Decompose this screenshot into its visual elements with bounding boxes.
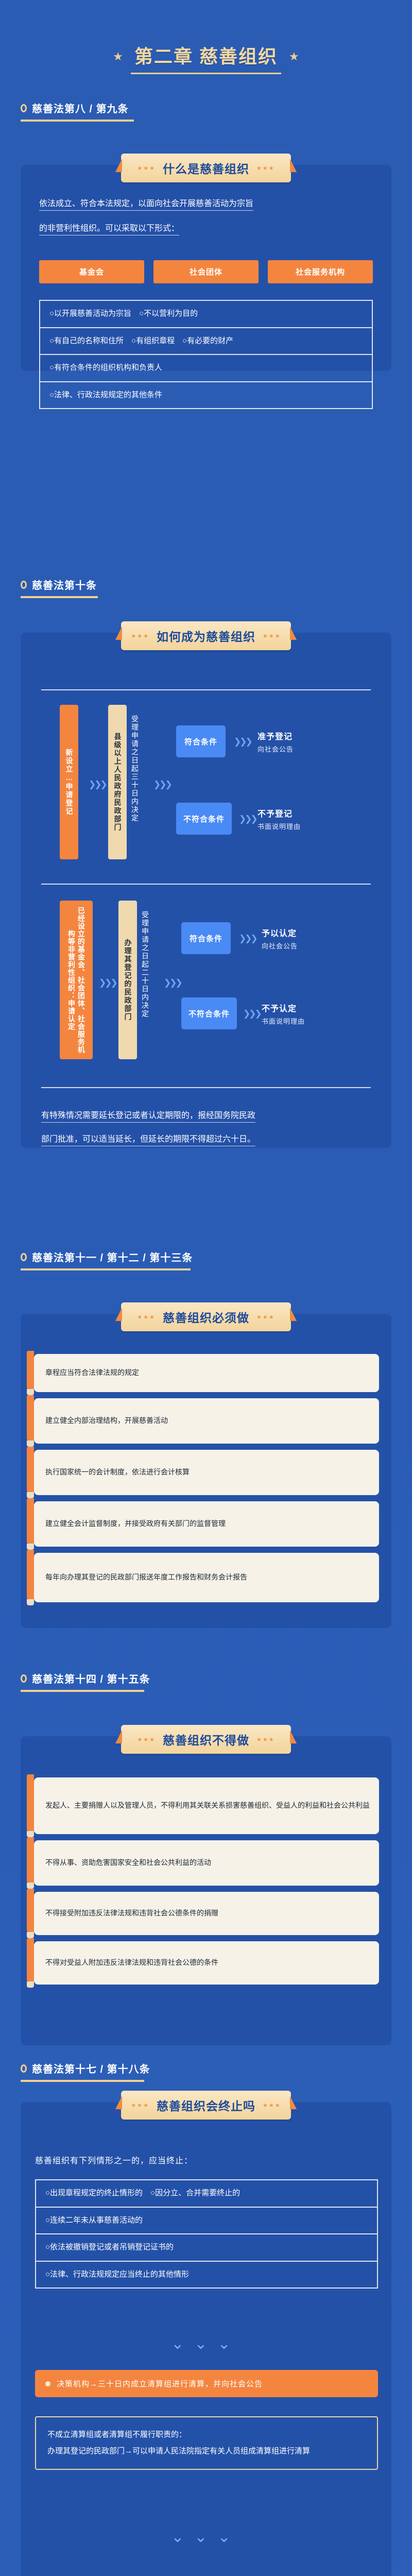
flow-deadline-existing: 受理申请之日起二十日内决定 [140, 911, 150, 1059]
condition-row: ○有符合条件的组织机构和负责人 [40, 354, 372, 381]
ribbon-title: 如何成为慈善组织 [157, 627, 255, 645]
outcome-detail: 书面说明理由 [257, 821, 301, 831]
ring-icon [21, 1674, 27, 1683]
flow-arrow-icon: ❯❯❯ [99, 978, 116, 988]
outcome-title: 予以认定 [262, 926, 298, 939]
ring-icon [21, 1253, 27, 1261]
step-1-text: 决策机构→三十日内成立清算组进行清算，并向社会公告 [57, 2378, 263, 2389]
termination-intro: 慈善组织有下列情形之一的，应当终止： [35, 2154, 193, 2166]
panel-must-do: ★★★ 慈善组织必须做 ★★★ 章程应当符合法律法规的规定 建立健全内部治理结构… [21, 1314, 391, 1628]
flow-authority-new: 县级以上人民政府民政部门 [108, 705, 127, 859]
section-underline [21, 2080, 144, 2082]
section-label-article-17-18: 慈善法第十七 / 第十八条 [21, 2061, 144, 2082]
must-not-do-list: 发起人、主要捐赠人以及管理人员，不得利用其关联关系损害慈善组织、受益人的利益和社… [34, 1777, 379, 1991]
definition-line-2: 的非营利性组织。可以采取以下形式： [39, 224, 179, 235]
panel-what-is-charity: ★★★ 什么是慈善组织 ★★★ 依法成立、符合本法规定，以面向社会开展慈善活动为… [21, 165, 391, 371]
condition-row: ○以开展慈善活动为宗旨 ○不以营利为目的 [40, 301, 372, 327]
down-arrow-icon-1: ⌄⌄⌄ [21, 2336, 391, 2352]
stars-right-icon: ★★★ [263, 2102, 281, 2109]
flow-outcome-not-recognize: 不予认定 书面说明理由 [262, 1002, 305, 1026]
list-item: 每年向办理其登记的民政部门报送年度工作报告和财务会计报告 [34, 1553, 379, 1602]
flow-arrow-icon: ❯❯❯ [234, 737, 251, 747]
panel-termination: ★★★ 慈善组织会终止吗 ★★★ 慈善组织有下列情形之一的，应当终止： ○出现章… [21, 2102, 391, 2576]
flow-arrow-icon: ❯❯❯ [89, 779, 106, 790]
charity-forms-list: 基金会 社会团体 社会服务机构 [39, 260, 373, 283]
flow-arrow-icon: ❯❯❯ [243, 1009, 261, 1019]
section-underline [21, 1268, 191, 1270]
form-chip-foundation[interactable]: 基金会 [39, 260, 144, 283]
list-item: 章程应当符合法律法规的规定 [34, 1354, 379, 1392]
infographic-page: ★ 第二章 慈善组织 ★ 慈善法第八 / 第九条 ★★★ 什么是慈善组织 ★★★… [0, 0, 412, 2576]
ribbon-how-to-become: ★★★ 如何成为慈善组织 ★★★ [121, 621, 291, 650]
flow-divider-bottom [41, 1087, 371, 1088]
definition-line-1: 依法成立、符合本法规定，以面向社会开展慈善活动为宗旨 [39, 199, 253, 211]
flow-arrow-icon: ❯❯❯ [153, 779, 171, 790]
condition-row: ○有自己的名称和住所 ○有组织章程 ○有必要的财产 [40, 327, 372, 354]
outcome-title: 准予登记 [257, 730, 294, 742]
outcome-title: 不予认定 [262, 1002, 305, 1014]
flow-arrow-icon: ❯❯❯ [239, 814, 256, 824]
flow-condition-unmet-2: 不符合条件 [181, 997, 237, 1029]
ribbon-title: 慈善组织必须做 [163, 1308, 249, 1326]
ribbon-what-is-charity: ★★★ 什么是慈善组织 ★★★ [121, 154, 291, 182]
flow-authority-existing: 办理其登记的民政部门 [118, 901, 137, 1059]
ribbon-must-not-do: ★★★ 慈善组织不得做 ★★★ [121, 1725, 291, 1754]
stars-right-icon: ★★★ [263, 633, 281, 639]
list-item: 执行国家统一的会计制度，依法进行会计核算 [34, 1450, 379, 1495]
termination-step-2: 不成立清算组或者清算组不履行职责的： 办理其登记的民政部门→可以申请人民法院指定… [35, 2416, 378, 2470]
chapter-header: ★ 第二章 慈善组织 ★ [0, 45, 412, 74]
flow-outcome-recognize: 予以认定 向社会公告 [262, 926, 298, 951]
ribbon-termination: ★★★ 慈善组织会终止吗 ★★★ [121, 2091, 291, 2120]
stars-right-icon: ★★★ [256, 1314, 275, 1320]
section-title: 慈善法第十四 / 第十五条 [32, 1671, 150, 1686]
outcome-detail: 书面说明理由 [262, 1016, 305, 1026]
termination-case-row: ○法律、行政法规规定应当终止的其他情形 [36, 2261, 377, 2288]
termination-case-row: ○出现章程规定的终止情形的 ○因分立、合并需要终止的 [36, 2180, 377, 2207]
must-do-list: 章程应当符合法律法规的规定 建立健全内部治理结构，开展慈善活动 执行国家统一的会… [34, 1354, 379, 1608]
outcome-detail: 向社会公告 [262, 941, 298, 951]
list-item: 不得接受附加违反法律法规和违背社会公德条件的捐赠 [34, 1892, 379, 1935]
section-label-article-14-15: 慈善法第十四 / 第十五条 [21, 1671, 144, 1692]
stars-left-icon: ★★★ [137, 1314, 156, 1320]
condition-row: ○法律、行政法规规定的其他条件 [40, 381, 372, 409]
flow-arrow-icon: ❯❯❯ [239, 934, 256, 944]
section-label-article-11-13: 慈善法第十一 / 第十二 / 第十三条 [21, 1249, 191, 1270]
star-icon-right: ★ [289, 51, 299, 62]
flow-condition-unmet: 不符合条件 [176, 803, 232, 835]
title-underline [131, 73, 281, 74]
conditions-bracket-list: ○以开展慈善活动为宗旨 ○不以营利为目的 ○有自己的名称和住所 ○有组织章程 ○… [39, 300, 373, 409]
flow-start-existing: 已经设立的基金会、社会团体、社会服务机构等非营利性组织：申请认定 [60, 901, 93, 1059]
section-title: 慈善法第八 / 第九条 [32, 100, 129, 115]
form-chip-service-org[interactable]: 社会服务机构 [268, 260, 373, 283]
flow-new-registration: 新设立…申请登记 ❯❯❯ 县级以上人民政府民政部门 受理申请之日起三十日内决定 … [41, 705, 371, 875]
stars-left-icon: ★★★ [137, 165, 156, 172]
form-chip-social-group[interactable]: 社会团体 [153, 260, 259, 283]
step-2-body: 办理其登记的民政部门→可以申请人民法院指定有关人员组成清算组进行清算 [47, 2443, 366, 2460]
ribbon-title: 慈善组织不得做 [163, 1731, 249, 1748]
section-label-article-8-9: 慈善法第八 / 第九条 [21, 100, 134, 122]
flow-start-new: 新设立…申请登记 [60, 705, 78, 859]
ribbon-must-do: ★★★ 慈善组织必须做 ★★★ [121, 1302, 291, 1331]
section-label-article-10: 慈善法第十条 [21, 577, 98, 598]
panel-must-not-do: ★★★ 慈善组织不得做 ★★★ 发起人、主要捐赠人以及管理人员，不得利用其关联关… [21, 1736, 391, 2045]
ribbon-title: 慈善组织会终止吗 [157, 2096, 255, 2114]
step-2-title: 不成立清算组或者清算组不履行职责的： [47, 2427, 366, 2443]
flow-condition-met-2: 符合条件 [181, 922, 231, 954]
list-item: 建立健全会计监督制度，并接受政府有关部门的监督管理 [34, 1501, 379, 1547]
flow-condition-met: 符合条件 [176, 725, 226, 757]
flow-arrow-icon: ❯❯❯ [164, 978, 181, 988]
stars-left-icon: ★★★ [131, 2102, 149, 2109]
termination-step-1: 决策机构→三十日内成立清算组进行清算，并向社会公告 [35, 2370, 378, 2397]
list-item: 不得对受益人附加违反法律法规和违背社会公德的条件 [34, 1941, 379, 1985]
ring-icon [21, 581, 27, 589]
section-underline [21, 120, 134, 122]
flow-recognition: 已经设立的基金会、社会团体、社会服务机构等非营利性组织：申请认定 ❯❯❯ 办理其… [41, 901, 371, 1071]
list-item: 发起人、主要捐赠人以及管理人员，不得利用其关联关系损害慈善组织、受益人的利益和社… [34, 1777, 379, 1834]
down-arrow-icon-2: ⌄⌄⌄ [21, 2530, 391, 2545]
extension-note-line-2: 部门批准，可以适当延长，但延长的期限不得超过六十日。 [41, 1135, 255, 1146]
outcome-detail: 向社会公告 [257, 744, 294, 754]
definition-paragraph: 依法成立、符合本法规定，以面向社会开展慈善活动为宗旨 的非营利性组织。可以采取以… [39, 195, 373, 238]
section-title: 慈善法第十七 / 第十八条 [32, 2061, 150, 2076]
ring-icon [21, 104, 27, 112]
section-underline [21, 596, 98, 598]
stars-left-icon: ★★★ [137, 1736, 156, 1743]
list-item: 不得从事、资助危害国家安全和社会公共利益的活动 [34, 1840, 379, 1886]
section-title: 慈善法第十一 / 第十二 / 第十三条 [32, 1249, 193, 1264]
bullet-icon [45, 2381, 50, 2386]
flow-outcome-approve: 准予登记 向社会公告 [257, 730, 294, 754]
termination-cases-list: ○出现章程规定的终止情形的 ○因分立、合并需要终止的 ○连续二年未从事慈善活动的… [35, 2179, 378, 2289]
ribbon-title: 什么是慈善组织 [163, 159, 249, 177]
termination-case-row: ○依法被撤销登记或者吊销登记证书的 [36, 2233, 377, 2261]
termination-case-row: ○连续二年未从事慈善活动的 [36, 2207, 377, 2234]
flow-divider-middle [41, 884, 371, 885]
extension-note-line-1: 有特殊情况需要延长登记或者认定期限的，报经国务院民政 [41, 1111, 255, 1123]
stars-right-icon: ★★★ [256, 165, 275, 172]
ring-icon [21, 2064, 27, 2073]
stars-right-icon: ★★★ [256, 1736, 275, 1743]
extension-note: 有特殊情况需要延长登记或者认定期限的，报经国务院民政 部门批准，可以适当延长，但… [41, 1107, 371, 1149]
flow-outcome-reject: 不予登记 书面说明理由 [257, 807, 301, 831]
stars-left-icon: ★★★ [131, 633, 149, 639]
list-item: 建立健全内部治理结构，开展慈善活动 [34, 1398, 379, 1444]
section-underline [21, 1690, 144, 1692]
flow-divider-top [41, 689, 371, 690]
star-icon-left: ★ [113, 51, 123, 62]
page-title: 第二章 慈善组织 [134, 45, 278, 67]
panel-how-to-become: ★★★ 如何成为慈善组织 ★★★ 新设立…申请登记 ❯❯❯ 县级以上人民政府民政… [21, 633, 391, 1148]
flow-deadline-new: 受理申请之日起三十日内决定 [130, 715, 140, 859]
section-title: 慈善法第十条 [32, 577, 97, 592]
outcome-title: 不予登记 [257, 807, 301, 819]
